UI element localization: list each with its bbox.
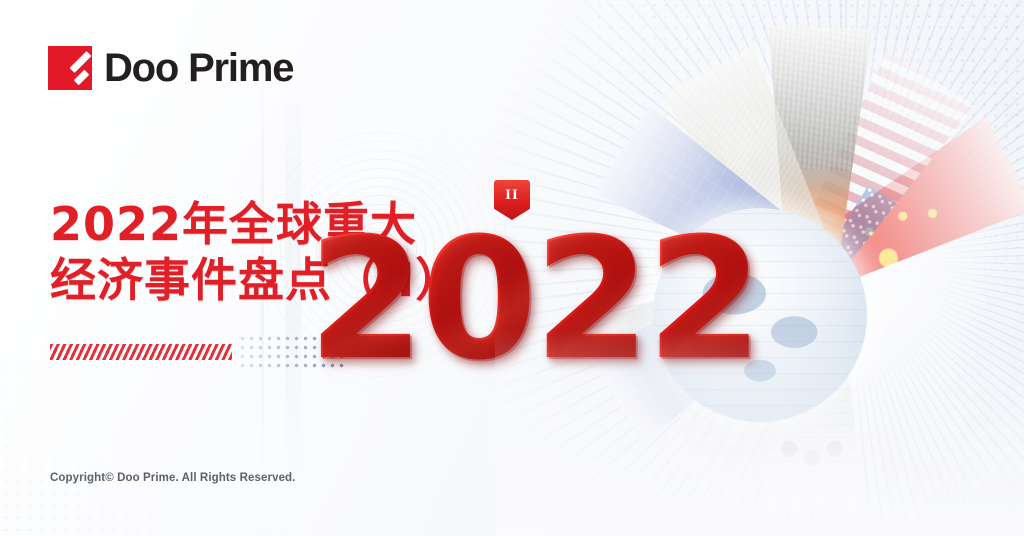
hero-year: 2 0 2 2 xyxy=(308,231,758,369)
copyright-text: Copyright© Doo Prime. All Rights Reserve… xyxy=(50,472,295,484)
wedge-label-eurusd: EUR/USD xyxy=(754,205,822,301)
wildfire-drought-photo-icon xyxy=(759,24,872,275)
us-flag-photo-icon xyxy=(764,50,974,300)
wedge-label-ftx: FTX xyxy=(782,268,813,304)
wedge-veil xyxy=(764,50,974,300)
wedge-veil xyxy=(759,24,872,275)
wedge-crowd xyxy=(760,274,864,510)
logo-slash-upper xyxy=(70,51,92,73)
wedge-wildfire xyxy=(759,24,872,275)
halftone-dots-background-bottom xyxy=(0,356,300,536)
year-digit: 2 xyxy=(533,231,644,369)
wedge-veil xyxy=(760,274,864,510)
brand-logo[interactable]: Doo Prime xyxy=(48,46,293,90)
ftx-logo: FTX xyxy=(761,228,826,328)
banner: Doo Prime 2022年全球重大 经济事件盘点（II） Copyright… xyxy=(0,0,1024,536)
year-digit: 2 xyxy=(308,231,419,369)
accent-stripe-rule xyxy=(50,344,232,360)
wedge-china-flag xyxy=(782,117,1024,317)
wedge-us-flag xyxy=(764,50,974,300)
logo-slash-lower xyxy=(74,70,90,86)
year-digit: 2 xyxy=(646,231,757,369)
wedge-veil xyxy=(782,117,1024,317)
crowd-queue-photo-icon xyxy=(760,274,864,510)
edition-badge-label: II xyxy=(505,187,519,204)
brand-wordmark: Doo Prime xyxy=(104,48,293,88)
year-digit: 0 xyxy=(421,231,532,369)
doo-prime-logo-mark-icon xyxy=(48,46,92,90)
ftx-mark-icon xyxy=(776,253,794,271)
china-flag-photo-icon xyxy=(782,117,1024,317)
